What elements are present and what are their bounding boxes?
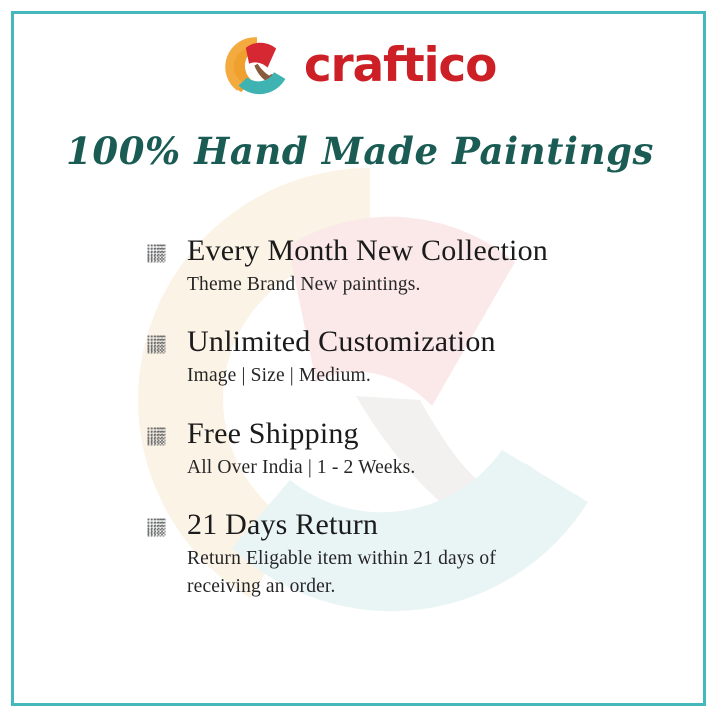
brand-wordmark: craftico (304, 42, 496, 92)
craftico-logo-icon (224, 34, 290, 100)
page-title: 100% Hand Made Paintings (0, 129, 720, 173)
feature-subtitle: Image | Size | Medium. (187, 362, 547, 390)
list-item: 21 Days Return Return Eligable item with… (146, 508, 666, 600)
woven-mesh-square-bullet-icon (146, 426, 167, 447)
list-item: Free Shipping All Over India | 1 - 2 Wee… (146, 417, 666, 481)
feature-title: 21 Days Return (187, 508, 666, 543)
feature-subtitle: Theme Brand New paintings. (187, 271, 547, 299)
list-item: Every Month New Collection Theme Brand N… (146, 234, 666, 298)
list-item: Unlimited Customization Image | Size | M… (146, 325, 666, 389)
feature-list: Every Month New Collection Theme Brand N… (146, 234, 666, 601)
woven-mesh-square-bullet-icon (146, 517, 167, 538)
feature-subtitle: All Over India | 1 - 2 Weeks. (187, 454, 547, 482)
feature-title: Unlimited Customization (187, 325, 666, 360)
feature-title: Free Shipping (187, 417, 666, 452)
woven-mesh-square-bullet-icon (146, 243, 167, 264)
feature-subtitle: Return Eligable item within 21 days of r… (187, 545, 547, 600)
woven-mesh-square-bullet-icon (146, 334, 167, 355)
feature-title: Every Month New Collection (187, 234, 666, 269)
promo-banner: craftico 100% Hand Made Paintings Every … (0, 0, 720, 720)
brand-lockup: craftico (0, 34, 720, 100)
